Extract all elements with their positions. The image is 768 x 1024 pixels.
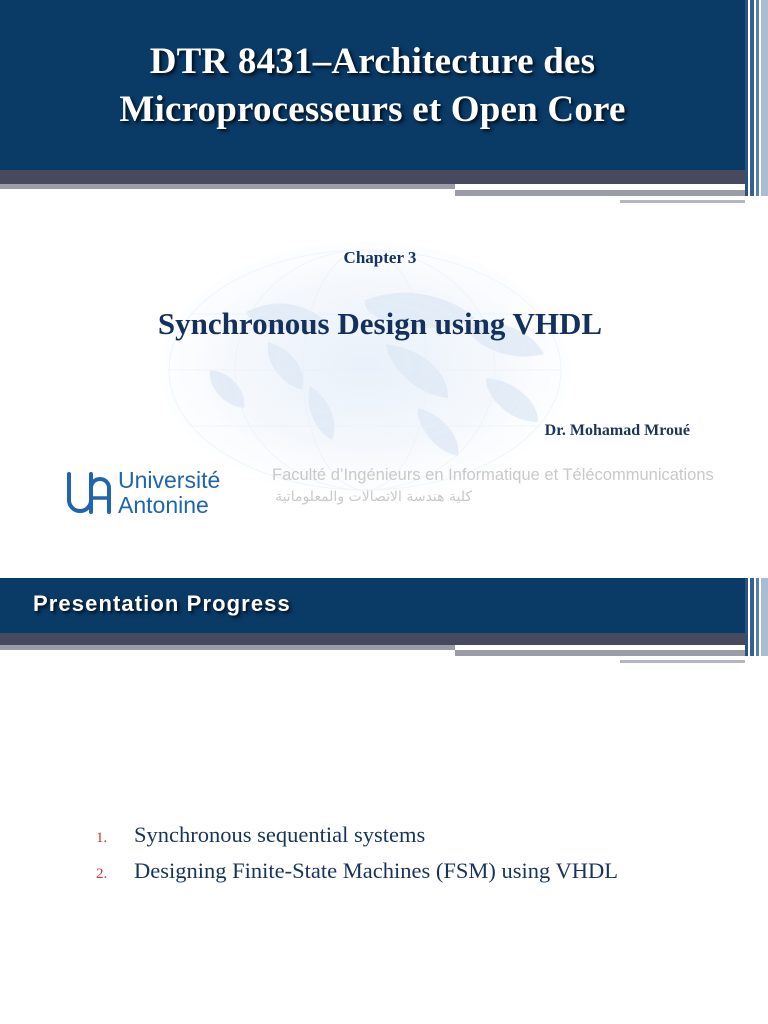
agenda-list: 1. Synchronous sequential systems 2. Des… xyxy=(96,822,736,894)
list-item-label: Synchronous sequential systems xyxy=(134,822,425,848)
faculty-block: Faculté d’Ingénieurs en Informatique et … xyxy=(272,464,714,508)
list-item-number: 1. xyxy=(96,830,134,847)
list-item: 2. Designing Finite-State Machines (FSM)… xyxy=(96,858,736,884)
author-name: Dr. Mohamad Mroué xyxy=(545,422,690,440)
university-logo-line1: Université xyxy=(118,468,220,493)
slide-title-page: DTR 8431–Architecture des Microprocesseu… xyxy=(0,0,768,578)
decorative-bar-gray-right xyxy=(455,190,745,196)
university-logo: Université Antonine xyxy=(62,464,220,522)
university-logo-line2: Antonine xyxy=(118,493,220,518)
decorative-bar-gray-right2-2 xyxy=(620,660,745,663)
decorative-bar-gray-left xyxy=(0,184,455,189)
list-item-label: Designing Finite-State Machines (FSM) us… xyxy=(134,858,618,884)
decorative-bar-dark-2 xyxy=(0,633,745,645)
list-item: 1. Synchronous sequential systems xyxy=(96,822,736,848)
ua-monogram-icon xyxy=(62,468,114,518)
page-title: Synchronous Design using VHDL xyxy=(0,306,760,342)
right-accent-stripes-2 xyxy=(745,578,768,656)
decorative-bar-gray-left-2 xyxy=(0,645,455,650)
decorative-bar-dark xyxy=(0,170,745,184)
section-banner: Presentation Progress xyxy=(0,578,745,633)
right-accent-stripes xyxy=(745,0,768,196)
stripe-7 xyxy=(761,0,768,196)
decorative-bar-gray-right-2 xyxy=(455,650,745,656)
title-banner: DTR 8431–Architecture des Microprocesseu… xyxy=(0,0,745,170)
stripe-7 xyxy=(761,578,768,656)
decorative-bar-gray-right2 xyxy=(620,200,745,203)
university-logo-text: Université Antonine xyxy=(118,468,220,518)
course-title: DTR 8431–Architecture des Microprocesseu… xyxy=(40,38,705,134)
chapter-label: Chapter 3 xyxy=(0,248,760,268)
section-title: Presentation Progress xyxy=(33,591,291,617)
faculty-name-french: Faculté d’Ingénieurs en Informatique et … xyxy=(272,464,714,486)
list-item-number: 2. xyxy=(96,866,134,883)
faculty-name-arabic: كلية هندسة الاتصالات والمعلوماتية xyxy=(272,486,472,508)
slide-agenda-page: Presentation Progress 1. Synchronous seq… xyxy=(0,578,768,1024)
